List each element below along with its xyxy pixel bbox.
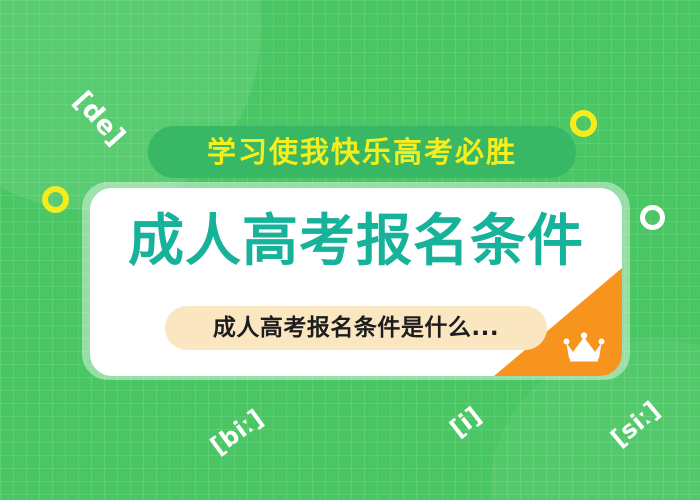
- ring-yellow-right-icon: [570, 110, 597, 137]
- subtitle-text: 成人高考报名条件是什么...: [213, 317, 499, 340]
- ring-yellow-left-icon: [42, 186, 69, 213]
- page-title: 成人高考报名条件: [90, 214, 622, 270]
- subtitle-pill: 成人高考报名条件是什么...: [165, 306, 547, 350]
- title-card: 成人高考报名条件 成人高考报名条件是什么...: [90, 188, 622, 376]
- poster-canvas: [de] [biː] [i] [siː] 学习使我快乐高考必胜 成人高考报名条件…: [0, 0, 700, 500]
- crown-icon: [562, 332, 606, 364]
- background-blob-top-left: [0, 0, 260, 210]
- ring-white-right-icon: [640, 205, 665, 230]
- slogan-banner: 学习使我快乐高考必胜: [148, 126, 576, 178]
- phonetic-tag-i: [i]: [445, 401, 487, 443]
- phonetic-tag-bi: [biː]: [205, 404, 268, 461]
- slogan-banner-text: 学习使我快乐高考必胜: [207, 138, 517, 167]
